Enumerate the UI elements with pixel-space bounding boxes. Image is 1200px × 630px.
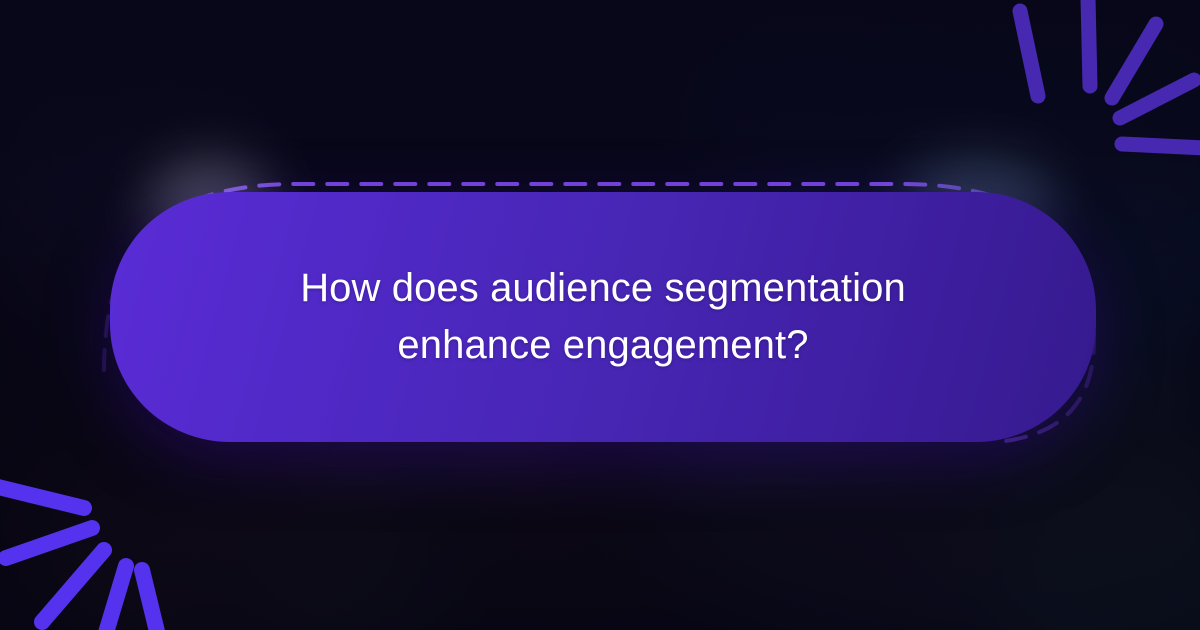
question-text: How does audience segmentation enhance e… (213, 260, 993, 374)
social-card-canvas: How does audience segmentation enhance e… (0, 0, 1200, 630)
sparkle-burst-icon-top-right (980, 0, 1200, 186)
question-card: How does audience segmentation enhance e… (110, 192, 1096, 442)
sparkle-burst-icon-bottom-left (0, 440, 184, 630)
